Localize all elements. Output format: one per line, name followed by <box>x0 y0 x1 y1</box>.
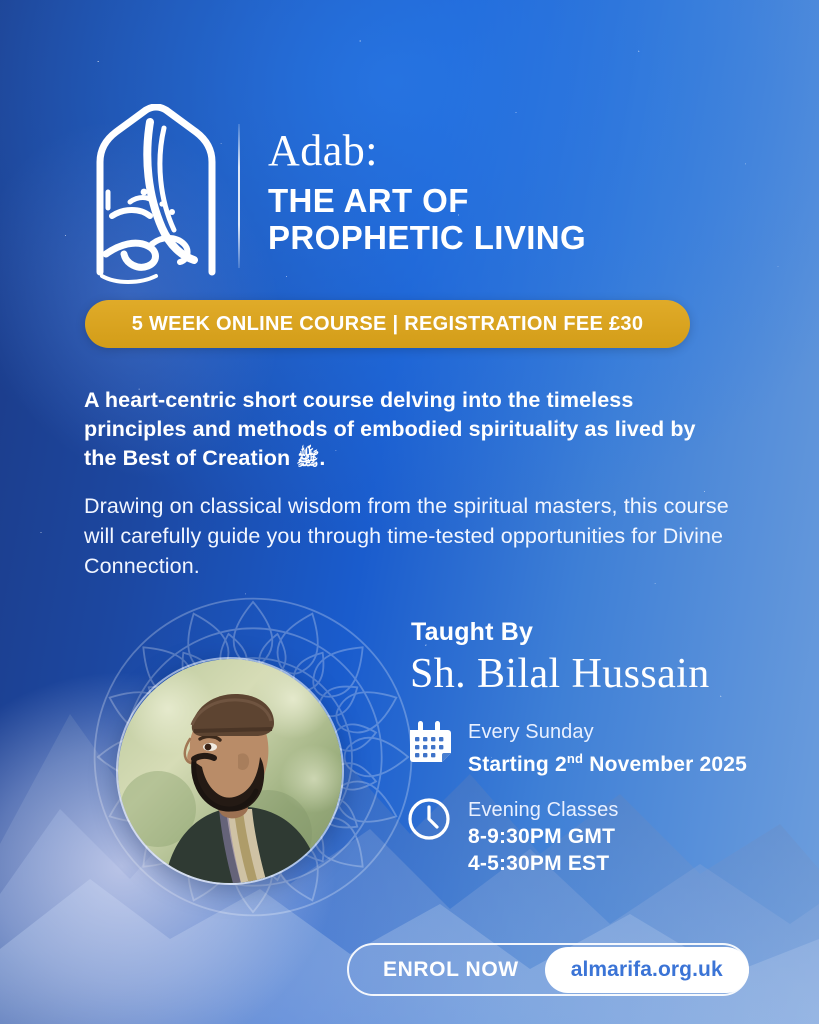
calendar-icon <box>406 718 452 764</box>
course-eyebrow-title: Adab: <box>268 128 586 174</box>
course-details-badge: 5 WEEK ONLINE COURSE | REGISTRATION FEE … <box>85 300 690 348</box>
schedule-date-row: Every Sunday Starting 2nd November 2025 <box>406 718 747 778</box>
description-primary-text: A heart-centric short course delving int… <box>84 388 696 470</box>
clock-icon <box>406 796 452 842</box>
start-date-ordinal: nd <box>567 751 583 766</box>
schedule-time-gmt: 8-9:30PM GMT <box>468 823 618 850</box>
teacher-portrait-image <box>118 659 344 885</box>
avatar <box>116 657 344 885</box>
headline-line-1: THE ART OF <box>268 183 586 220</box>
schedule-start-date: Starting 2nd November 2025 <box>468 745 747 778</box>
title-block: Adab: THE ART OF PROPHETIC LIVING <box>268 128 586 257</box>
enrol-cta[interactable]: ENROL NOW almarifa.org.uk <box>347 943 749 996</box>
schedule-time-row: Evening Classes 8-9:30PM GMT 4-5:30PM ES… <box>406 796 618 877</box>
teacher-name: Sh. Bilal Hussain <box>410 650 710 698</box>
website-url-button[interactable]: almarifa.org.uk <box>545 947 749 993</box>
schedule-date-text: Every Sunday Starting 2nd November 2025 <box>468 718 747 778</box>
course-description-secondary: Drawing on classical wisdom from the spi… <box>84 491 744 581</box>
description-primary-punctuation: . <box>319 446 325 470</box>
headline-line-2: PROPHETIC LIVING <box>268 220 586 257</box>
taught-by-label: Taught By <box>411 618 533 647</box>
start-date-suffix: November 2025 <box>583 753 747 776</box>
start-date-prefix: Starting 2 <box>468 753 567 776</box>
almarifa-logo-icon <box>86 104 226 284</box>
enrol-now-label[interactable]: ENROL NOW <box>383 958 519 982</box>
schedule-session-label: Evening Classes <box>468 798 618 823</box>
schedule-time-text: Evening Classes 8-9:30PM GMT 4-5:30PM ES… <box>468 796 618 877</box>
schedule-day: Every Sunday <box>468 720 747 745</box>
almarifa-logo <box>86 104 226 284</box>
schedule-time-est: 4-5:30PM EST <box>468 850 618 877</box>
sallallahu-alayhi-wasallam-symbol: ﷺ <box>296 449 319 470</box>
header-divider <box>238 124 240 268</box>
course-promo-poster: Adab: THE ART OF PROPHETIC LIVING 5 WEEK… <box>0 0 819 1024</box>
page-title: THE ART OF PROPHETIC LIVING <box>268 183 586 257</box>
course-description-primary: A heart-centric short course delving int… <box>84 386 724 474</box>
course-details-badge-label: 5 WEEK ONLINE COURSE | REGISTRATION FEE … <box>132 313 644 336</box>
